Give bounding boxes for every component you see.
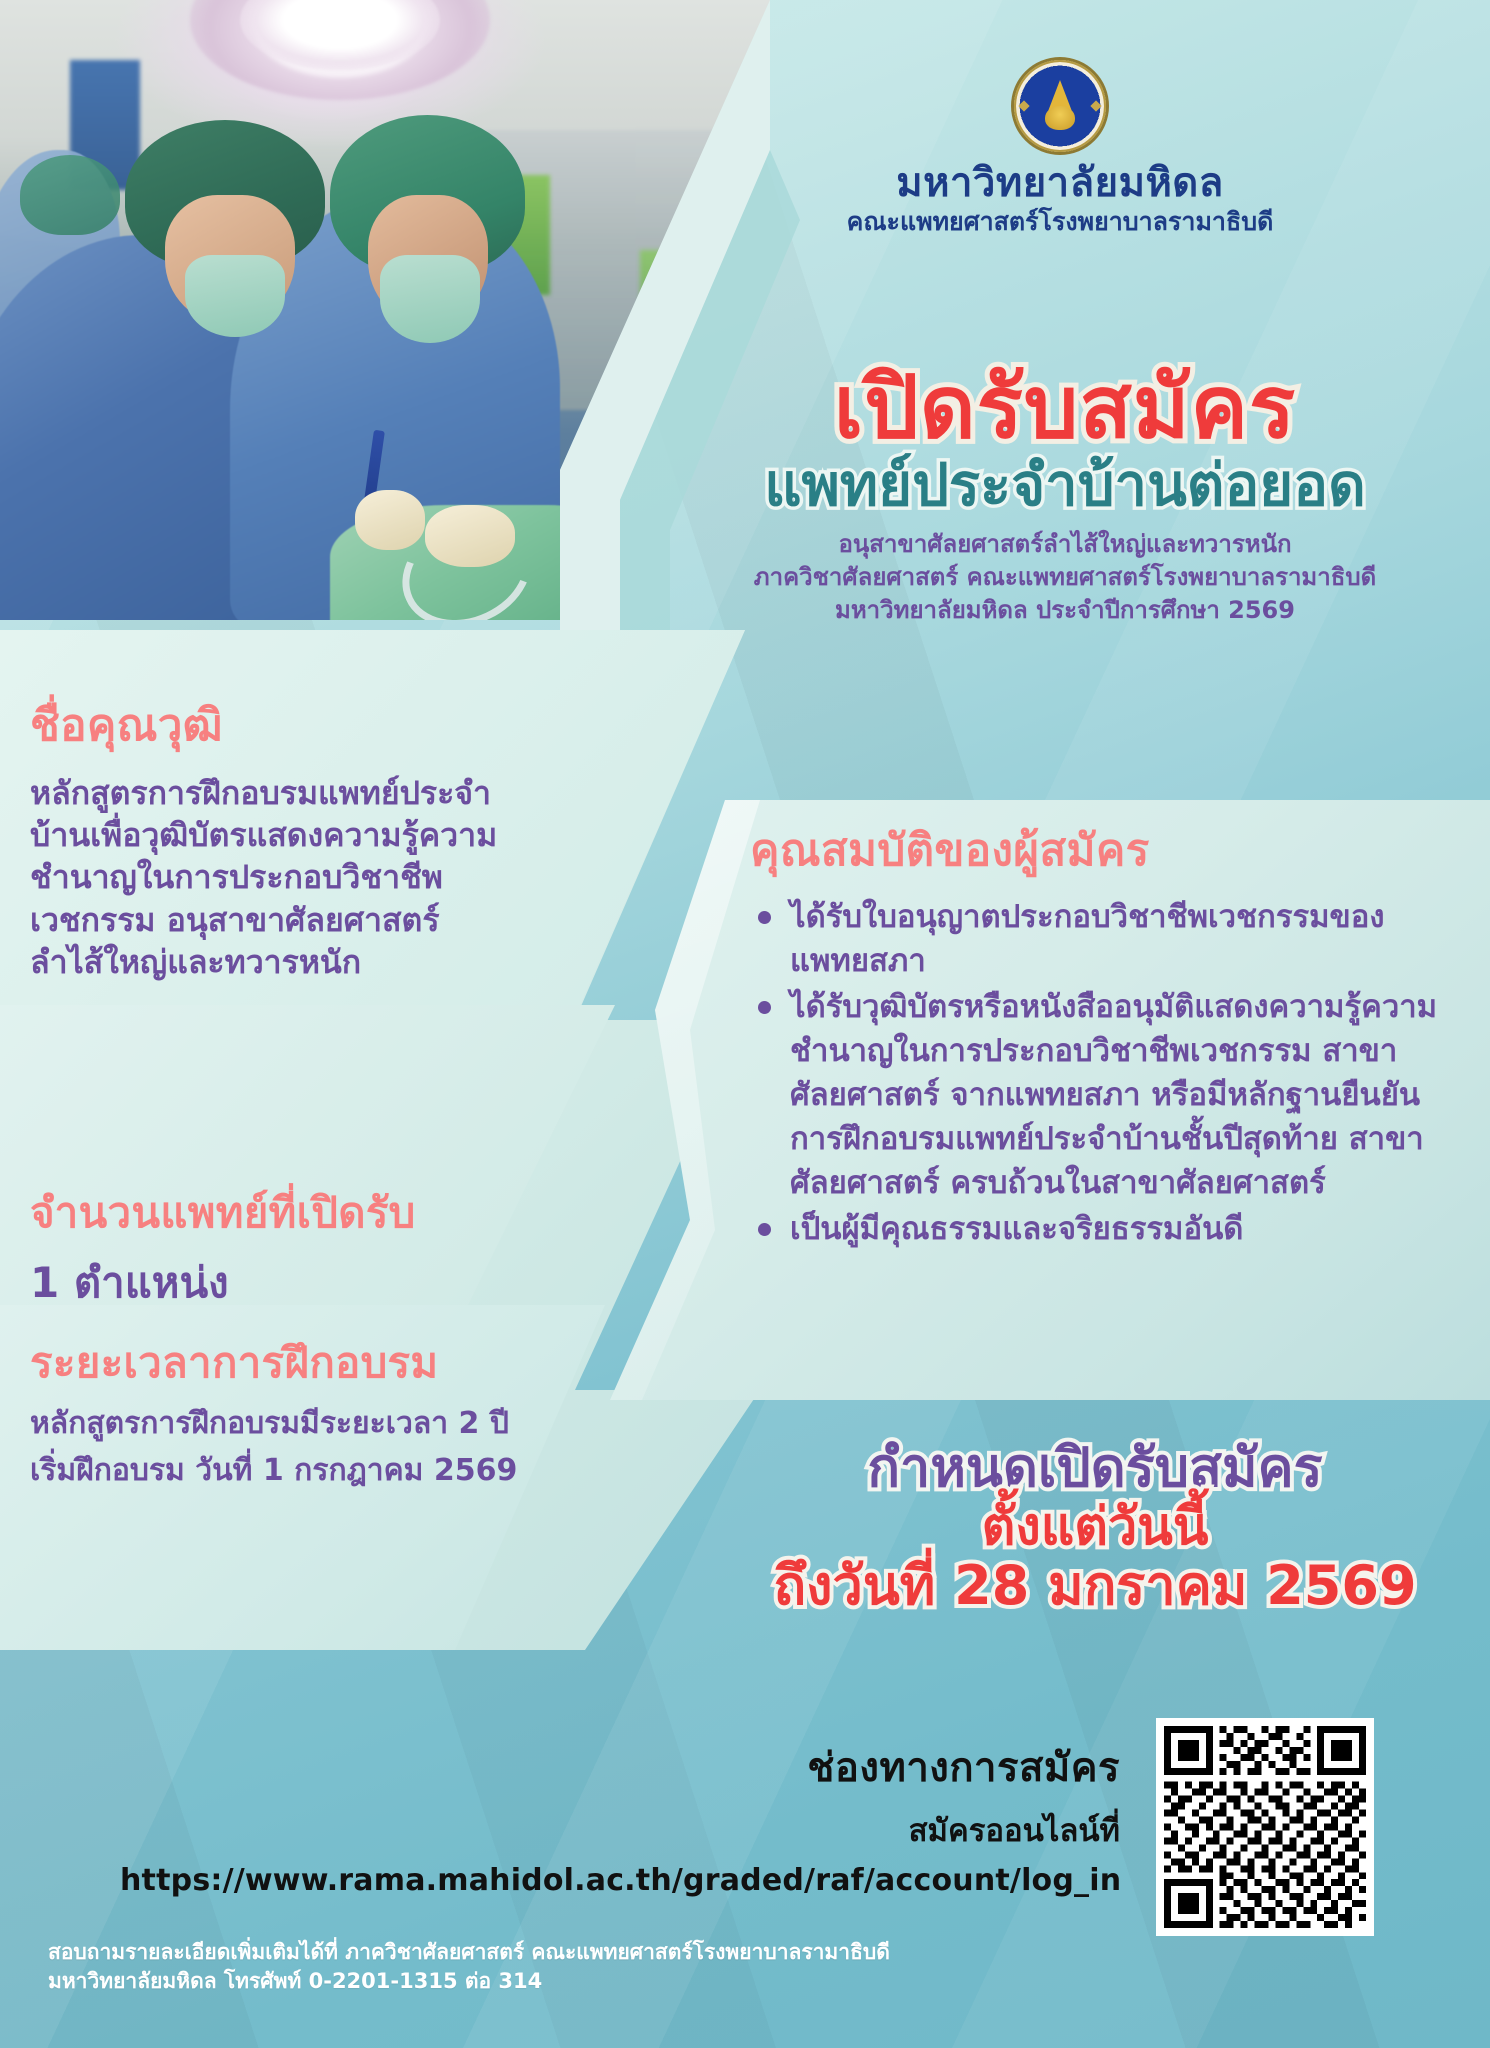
duration-heading: ระยะเวลาการฝึกอบรม (30, 1330, 590, 1396)
footer: สอบถามรายละเอียดเพิ่มเติมได้ที่ ภาควิชาศ… (48, 1938, 1148, 1996)
positions-heading: จำนวนแพทย์ที่เปิดรับ (30, 1180, 570, 1246)
list-item: ได้รับวุฒิบัตรหรือหนังสืออนุมัติแสดงความ… (750, 985, 1470, 1205)
list-item: เป็นผู้มีคุณธรรมและจริยธรรมอันดี (750, 1207, 1470, 1251)
footer-line-1: สอบถามรายละเอียดเพิ่มเติมได้ที่ ภาควิชาศ… (48, 1938, 1148, 1967)
title-line-3: มหาวิทยาลัยมหิดล ประจำปีการศึกษา 2569 (640, 594, 1490, 627)
applicant-qualifications-list: ได้รับใบอนุญาตประกอบวิชาชีพเวชกรรมของแพท… (750, 895, 1470, 1251)
title-block: เปิดรับสมัคร แพทย์ประจำบ้านต่อยอด อนุสาข… (640, 365, 1490, 627)
bullet-icon (758, 1001, 771, 1014)
qr-code-image (1164, 1726, 1366, 1928)
faculty-name: คณะแพทยศาสตร์โรงพยาบาลรามาธิบดี (640, 208, 1480, 237)
sub-title: แพทย์ประจำบ้านต่อยอด (640, 455, 1490, 516)
positions-value: 1 ตำแหน่ง (30, 1250, 570, 1316)
qualification-name-body: หลักสูตรการฝึกอบรมแพทย์ประจำบ้านเพื่อวุฒ… (30, 772, 550, 983)
apply-block: ช่องทางการสมัคร สมัครออนไลน์ที่ https://… (120, 1735, 1120, 1898)
duration-section: ระยะเวลาการฝึกอบรม หลักสูตรการฝึกอบรมมีร… (30, 1330, 590, 1490)
duration-line-2: เริ่มฝึกอบรม วันที่ 1 กรกฎาคม 2569 (30, 1451, 590, 1490)
deadline-line-1: กำหนดเปิดรับสมัคร (700, 1440, 1490, 1497)
list-item-text: ได้รับวุฒิบัตรหรือหนังสืออนุมัติแสดงความ… (790, 989, 1437, 1201)
header: มหาวิทยาลัยมหิดล คณะแพทยศาสตร์โรงพยาบาลร… (640, 60, 1480, 237)
duration-line-1: หลักสูตรการฝึกอบรมมีระยะเวลา 2 ปี (30, 1404, 590, 1443)
bullet-icon (758, 911, 771, 924)
qualification-name-section: ชื่อคุณวุฒิ หลักสูตรการฝึกอบรมแพทย์ประจำ… (30, 690, 550, 983)
list-item-text: ได้รับใบอนุญาตประกอบวิชาชีพเวชกรรมของแพท… (790, 899, 1385, 979)
applicant-qualifications-section: คุณสมบัติของผู้สมัคร ได้รับใบอนุญาตประกอ… (750, 815, 1470, 1253)
list-item: ได้รับใบอนุญาตประกอบวิชาชีพเวชกรรมของแพท… (750, 895, 1470, 983)
bullet-icon (758, 1223, 771, 1236)
footer-line-2: มหาวิทยาลัยมหิดล โทรศัพท์ 0-2201-1315 ต่… (48, 1967, 1148, 1996)
list-item-text: เป็นผู้มีคุณธรรมและจริยธรรมอันดี (790, 1211, 1243, 1247)
main-title: เปิดรับสมัคร (640, 365, 1490, 451)
university-name: มหาวิทยาลัยมหิดล (640, 162, 1480, 204)
title-detail-lines: อนุสาขาศัลยศาสตร์ลำไส้ใหญ่และทวารหนัก ภา… (640, 528, 1490, 627)
apply-subheading: สมัครออนไลน์ที่ (120, 1805, 1120, 1855)
deadline-block: กำหนดเปิดรับสมัคร ตั้งแต่วันนี้ ถึงวันที… (700, 1440, 1490, 1615)
apply-heading: ช่องทางการสมัคร (120, 1735, 1120, 1799)
qr-code[interactable] (1156, 1718, 1374, 1936)
deadline-line-2: ตั้งแต่วันนี้ (700, 1499, 1490, 1555)
applicant-qualifications-heading: คุณสมบัติของผู้สมัคร (750, 815, 1470, 885)
positions-section: จำนวนแพทย์ที่เปิดรับ 1 ตำแหน่ง (30, 1180, 570, 1316)
apply-url[interactable]: https://www.rama.mahidol.ac.th/graded/ra… (120, 1863, 1120, 1898)
title-line-1: อนุสาขาศัลยศาสตร์ลำไส้ใหญ่และทวารหนัก (640, 528, 1490, 561)
poster-root: มหาวิทยาลัยมหิดล คณะแพทยศาสตร์โรงพยาบาลร… (0, 0, 1490, 2048)
mahidol-crest-icon (1014, 60, 1106, 152)
qualification-name-heading: ชื่อคุณวุฒิ (30, 690, 550, 760)
deadline-line-3: ถึงวันที่ 28 มกราคม 2569 (700, 1557, 1490, 1615)
title-line-2: ภาควิชาศัลยศาสตร์ คณะแพทยศาสตร์โรงพยาบาล… (640, 561, 1490, 594)
